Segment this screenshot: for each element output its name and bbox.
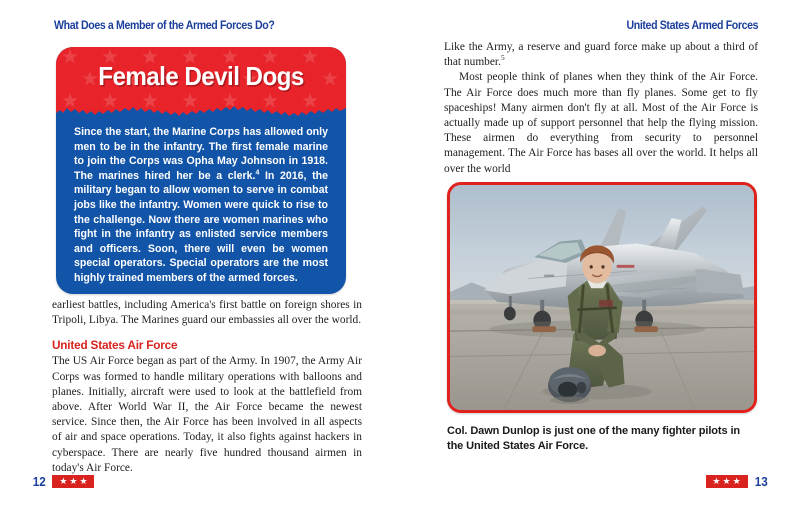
torn-paper-edge xyxy=(56,99,346,121)
folio-right: ★ ★ ★ 13 xyxy=(706,474,768,489)
star-icon: ★ xyxy=(69,477,77,486)
stars-badge-left: ★ ★ ★ xyxy=(52,475,94,488)
sidebar-feature-box: Female Devil Dogs Since the start, the M… xyxy=(56,47,346,294)
star-icon: ★ xyxy=(733,477,741,486)
right-body-paragraph: Most people think of planes when they th… xyxy=(444,70,758,176)
folio-left: 12 ★ ★ ★ xyxy=(32,474,94,489)
star-icon: ★ xyxy=(722,477,730,486)
star-icon: ★ xyxy=(712,477,720,486)
photo-fighter-pilot xyxy=(447,182,757,413)
sidebar-body-part2: In 2016, the military began to allow wom… xyxy=(74,170,328,284)
right-continued-text: Like the Army, a reserve and guard force… xyxy=(444,41,758,68)
left-body-paragraph: The US Air Force began as part of the Ar… xyxy=(52,354,362,476)
photo-caption: Col. Dawn Dunlop is just one of the many… xyxy=(447,424,759,453)
right-footnote-marker: 5 xyxy=(501,53,505,62)
left-column: earliest battles, including America's fi… xyxy=(52,298,362,476)
running-head-left: What Does a Member of the Armed Forces D… xyxy=(54,20,274,32)
star-icon: ★ xyxy=(59,477,67,486)
left-continued-paragraph: earliest battles, including America's fi… xyxy=(52,298,362,328)
page-number-right: 13 xyxy=(754,474,767,489)
right-column: Like the Army, a reserve and guard force… xyxy=(444,40,758,177)
running-head-right: United States Armed Forces xyxy=(626,20,758,32)
right-continued-paragraph: Like the Army, a reserve and guard force… xyxy=(444,40,758,70)
stars-badge-right: ★ ★ ★ xyxy=(706,475,748,488)
sidebar-body-text: Since the start, the Marine Corps has al… xyxy=(74,125,328,286)
book-spread: What Does a Member of the Armed Forces D… xyxy=(0,0,800,511)
page-number-left: 12 xyxy=(33,474,46,489)
star-icon: ★ xyxy=(80,477,88,486)
sidebar-title: Female Devil Dogs xyxy=(66,61,336,92)
subhead-united-states-air-force: United States Air Force xyxy=(52,338,347,352)
